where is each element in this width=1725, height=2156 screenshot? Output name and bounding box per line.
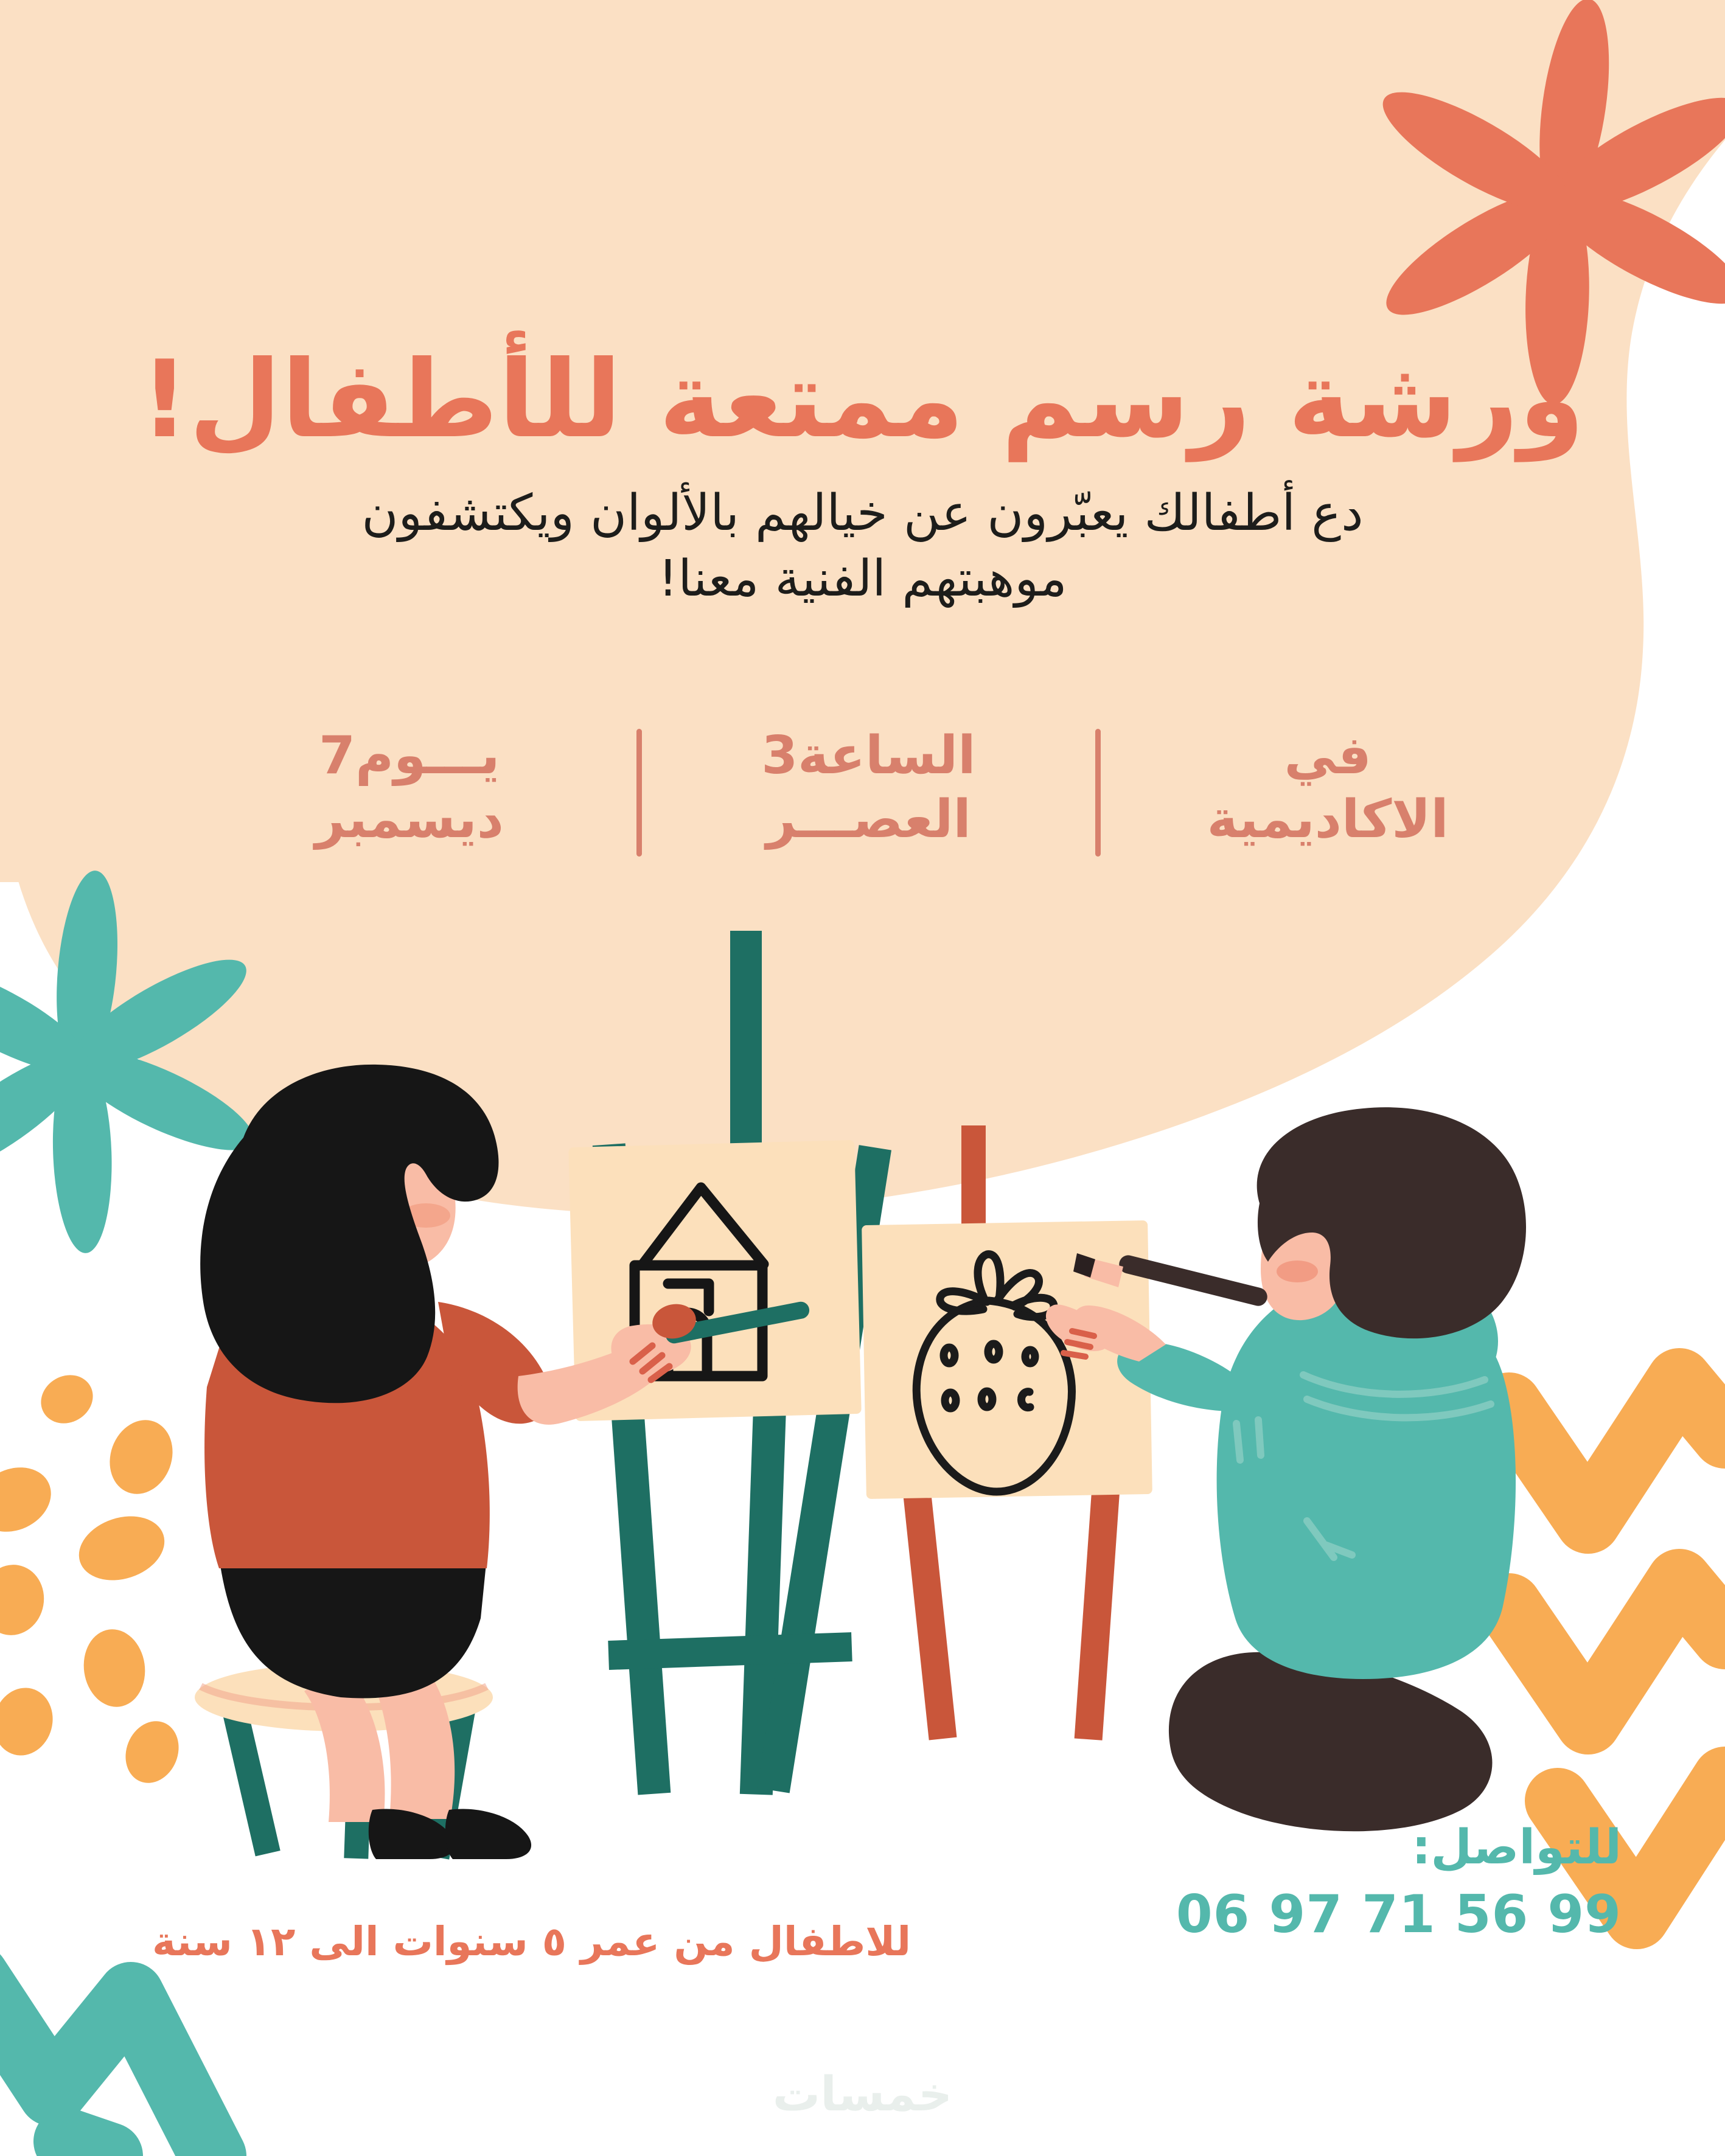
info-time: الساعة3 العصـــر <box>642 724 1096 852</box>
canvas-strawberry-drawing <box>862 1220 1152 1499</box>
subtitle-line-1: دع أطفالك يعبّرون عن خيالهم بالألوان ويك… <box>361 484 1363 542</box>
info-date: يـــوم7 ديسمبر <box>183 724 636 852</box>
info-date-line-1: يـــوم7 <box>189 724 630 788</box>
event-info-row: في الاكاديمية الساعة3 العصـــر يـــوم7 د… <box>183 724 1555 857</box>
boy-cheek <box>1277 1261 1318 1282</box>
girl-shoe <box>445 1809 531 1859</box>
headline-block: ورشة رسم ممتعة للأطفال! دع أطفالك يعبّرو… <box>0 341 1725 612</box>
info-divider <box>1095 729 1101 857</box>
contact-phone[interactable]: 06 97 71 56 99 <box>1176 1884 1622 1946</box>
subtitle: دع أطفالك يعبّرون عن خيالهم بالألوان ويك… <box>122 481 1603 612</box>
contact-label: للتواصل: <box>1176 1822 1622 1874</box>
page-title: ورشة رسم ممتعة للأطفال! <box>85 341 1640 460</box>
subtitle-line-2: موهبتهم الفنية معنا! <box>658 550 1067 608</box>
boy-legs <box>1169 1652 1493 1831</box>
info-time-line-1: الساعة3 <box>648 724 1090 788</box>
info-location-line-2: الاكاديمية <box>1107 788 1549 852</box>
info-date-line-2: ديسمبر <box>189 788 630 852</box>
watermark: خمسات <box>0 2067 1725 2122</box>
contact-block: للتواصل: 06 97 71 56 99 <box>1176 1822 1622 1946</box>
info-location: في الاكاديمية <box>1101 724 1555 852</box>
age-requirement-note: للاطفال من عمر ٥ سنوات الى ١٢ سنة <box>152 1918 1126 1966</box>
info-location-line-1: في <box>1107 724 1549 788</box>
poster-canvas: ورشة رسم ممتعة للأطفال! دع أطفالك يعبّرو… <box>0 0 1725 2156</box>
info-divider <box>636 729 642 857</box>
info-time-line-2: العصـــر <box>648 788 1090 852</box>
